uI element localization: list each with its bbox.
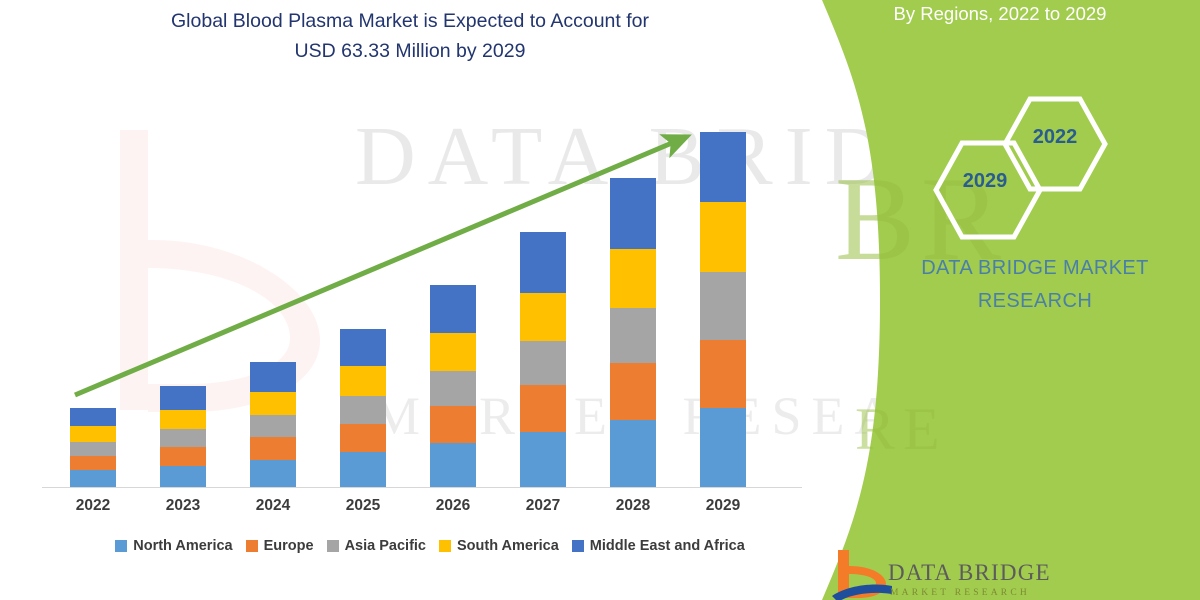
x-axis-label-2025: 2025 <box>318 497 408 515</box>
bar-segment <box>70 426 116 441</box>
bar-segment <box>700 132 746 202</box>
panel-brand: DATA BRIDGE MARKET RESEARCH <box>870 252 1200 318</box>
bar-segment <box>250 460 296 487</box>
panel-brand-line-2: RESEARCH <box>870 285 1200 318</box>
x-axis-label-2022: 2022 <box>48 497 138 515</box>
logo-tagline: MARKET RESEARCH <box>890 588 1030 598</box>
bar-segment <box>340 452 386 487</box>
chart-legend: North AmericaEuropeAsia PacificSouth Ame… <box>40 538 820 554</box>
legend-item[interactable]: North America <box>115 538 232 554</box>
bar-segment <box>250 362 296 392</box>
legend-swatch-icon <box>327 540 339 552</box>
bar-column-2028 <box>610 178 656 487</box>
bar-segment <box>430 333 476 371</box>
infographic-canvas: DATA BRIDGE MARKET RESEARCH Global Blood… <box>0 0 1200 600</box>
bar-segment <box>700 340 746 408</box>
x-axis-label-2028: 2028 <box>588 497 678 515</box>
bar-segment <box>160 386 206 410</box>
stacked-bar-chart: 20222023202420252026202720282029 <box>0 0 820 600</box>
hexagon-2029-label: 2029 <box>940 170 1030 193</box>
legend-label: South America <box>457 538 559 554</box>
bar-segment <box>610 249 656 308</box>
bar-segment <box>340 366 386 396</box>
logo-b-mark-icon <box>832 548 892 600</box>
legend-swatch-icon <box>115 540 127 552</box>
bar-segment <box>610 308 656 363</box>
bar-column-2022 <box>70 408 116 487</box>
legend-item[interactable]: Middle East and Africa <box>572 538 745 554</box>
bar-segment <box>160 410 206 429</box>
panel-brand-line-1: DATA BRIDGE MARKET <box>870 252 1200 285</box>
bar-segment <box>610 178 656 249</box>
bar-segment <box>340 424 386 453</box>
bar-segment <box>70 456 116 471</box>
x-axis-label-2027: 2027 <box>498 497 588 515</box>
legend-swatch-icon <box>572 540 584 552</box>
logo-name: DATA BRIDGE <box>888 560 1051 586</box>
panel-heading: By Regions, 2022 to 2029 <box>800 0 1200 28</box>
legend-swatch-icon <box>439 540 451 552</box>
bar-segment <box>160 466 206 487</box>
legend-item[interactable]: South America <box>439 538 559 554</box>
bar-column-2024 <box>250 362 296 487</box>
bar-segment <box>520 341 566 386</box>
bar-segment <box>610 420 656 487</box>
legend-label: Middle East and Africa <box>590 538 745 554</box>
bar-segment <box>520 232 566 293</box>
x-axis-label-2029: 2029 <box>678 497 768 515</box>
x-axis-label-2026: 2026 <box>408 497 498 515</box>
bar-segment <box>70 442 116 456</box>
legend-swatch-icon <box>246 540 258 552</box>
bar-segment <box>430 285 476 333</box>
bar-column-2023 <box>160 386 206 487</box>
bar-segment <box>610 363 656 420</box>
panel-watermark-bottom: RE <box>855 395 948 464</box>
legend-item[interactable]: Europe <box>246 538 314 554</box>
bar-segment <box>70 408 116 427</box>
bar-segment <box>700 272 746 340</box>
legend-label: Europe <box>264 538 314 554</box>
bar-column-2029 <box>700 132 746 487</box>
x-axis-label-2023: 2023 <box>138 497 228 515</box>
x-axis-label-2024: 2024 <box>228 497 318 515</box>
bar-segment <box>430 406 476 443</box>
bar-segment <box>430 371 476 406</box>
legend-label: North America <box>133 538 232 554</box>
bar-column-2027 <box>520 232 566 487</box>
bar-segment <box>340 329 386 367</box>
legend-label: Asia Pacific <box>345 538 426 554</box>
bar-segment <box>160 429 206 447</box>
bar-segment <box>250 437 296 460</box>
legend-item[interactable]: Asia Pacific <box>327 538 426 554</box>
bar-segment <box>340 396 386 423</box>
bar-segment <box>250 392 296 416</box>
x-axis-line <box>42 487 802 488</box>
bar-column-2026 <box>430 285 476 487</box>
bar-segment <box>250 415 296 437</box>
bar-segment <box>700 408 746 487</box>
bar-segment <box>430 443 476 487</box>
bar-column-2025 <box>340 329 386 487</box>
bar-segment <box>160 447 206 466</box>
bar-segment <box>520 293 566 341</box>
bar-segment <box>700 202 746 272</box>
bar-segment <box>520 432 566 487</box>
bar-segment <box>70 470 116 487</box>
bar-segment <box>520 385 566 432</box>
